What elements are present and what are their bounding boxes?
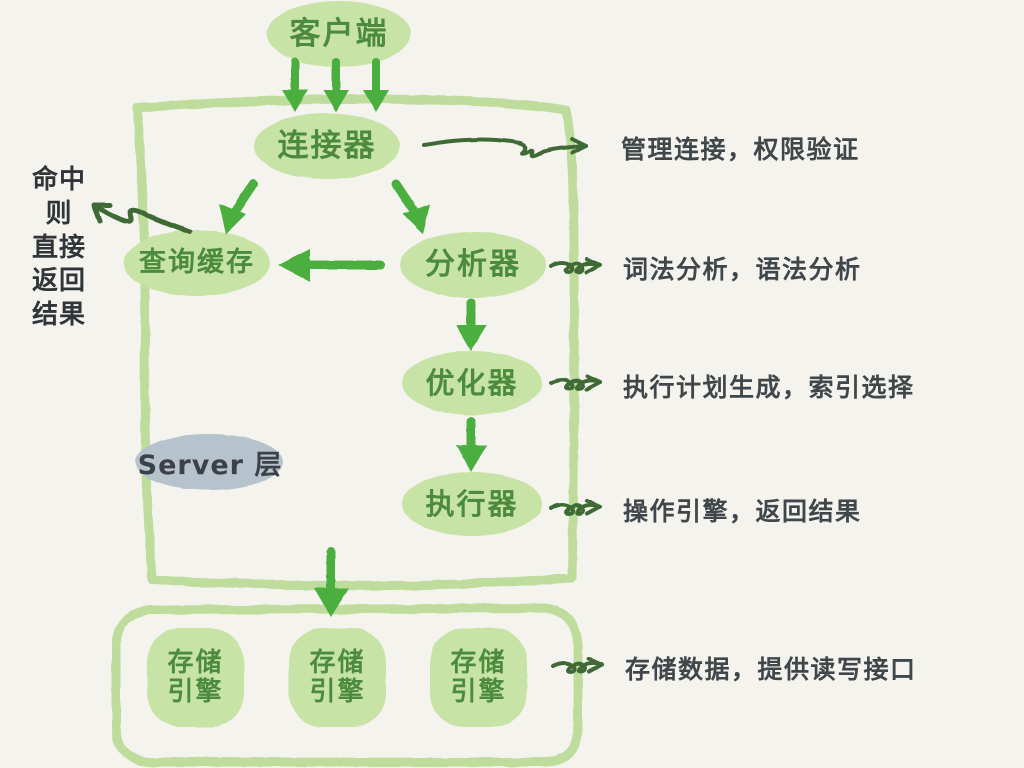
node-storage-engine-3[interactable]: [430, 628, 527, 727]
diagram-canvas: 客户端 连接器 查询缓存 分析器 优化器 执行器 存储 引擎 存储 引擎 存储 …: [0, 0, 1024, 768]
server-layer-label: Server 层: [137, 440, 283, 484]
cache-hit-line-2: 则: [20, 198, 98, 232]
node-storage-engine-2[interactable]: [289, 628, 386, 727]
cache-hit-line-5: 结果: [20, 299, 98, 333]
node-optimizer[interactable]: [402, 351, 542, 415]
arrow-connector-to-query-cache: [219, 184, 253, 234]
squiggle-connector-note: [424, 139, 586, 156]
arrow-connector-to-analyzer: [396, 184, 430, 234]
annotation-connector: 管理连接，权限验证: [621, 130, 860, 166]
arrow-client-to-connector: [282, 62, 389, 112]
annotation-executor: 操作引擎，返回结果: [623, 492, 862, 528]
cache-hit-line-1: 命中: [20, 164, 98, 198]
arrow-optimizer-to-executor: [456, 421, 487, 472]
annotation-cache-hit: 命中 则 直接 返回 结果: [20, 164, 98, 333]
annotation-optimizer: 执行计划生成，索引选择: [623, 368, 915, 404]
arrow-analyzer-to-query-cache: [278, 249, 380, 282]
arrow-analyzer-to-optimizer: [456, 303, 487, 351]
annotation-storage: 存储数据，提供读写接口: [625, 650, 917, 686]
annotation-analyzer: 词法分析，语法分析: [623, 250, 862, 286]
cache-hit-line-3: 直接: [20, 232, 98, 266]
node-executor[interactable]: [402, 472, 542, 536]
node-query-cache[interactable]: [124, 230, 270, 296]
node-connector[interactable]: [254, 113, 400, 179]
cache-hit-line-4: 返回: [20, 265, 98, 299]
node-client[interactable]: [267, 1, 411, 67]
node-analyzer[interactable]: [400, 232, 546, 298]
node-storage-engine-1[interactable]: [147, 628, 244, 727]
